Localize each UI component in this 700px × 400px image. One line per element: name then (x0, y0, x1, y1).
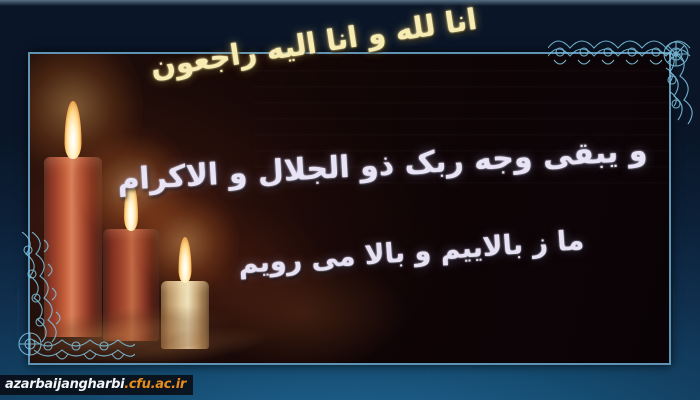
candle-right-flame-icon (179, 237, 192, 283)
candle-right (161, 229, 209, 349)
photo-frame (28, 52, 671, 365)
candle-mid-flame-icon (124, 181, 138, 231)
candle-left-body (44, 157, 102, 337)
watermark: azarbaijangharbi.cfu.ac.ir (0, 375, 193, 395)
background-top-sheen (0, 0, 700, 6)
memorial-card: انا لله و انا اليه راجعون و يبقى وجه ربک… (0, 0, 700, 400)
candle-right-body (161, 281, 209, 349)
candle-mid-body (103, 229, 159, 341)
candle-mid (103, 176, 159, 341)
watermark-domain: .cfu.ac.ir (124, 377, 186, 392)
photo-plank-texture (254, 54, 669, 196)
watermark-site-name: azarbaijangharbi (5, 377, 124, 392)
candle-left-flame-icon (65, 101, 82, 159)
candle-left (44, 105, 102, 337)
